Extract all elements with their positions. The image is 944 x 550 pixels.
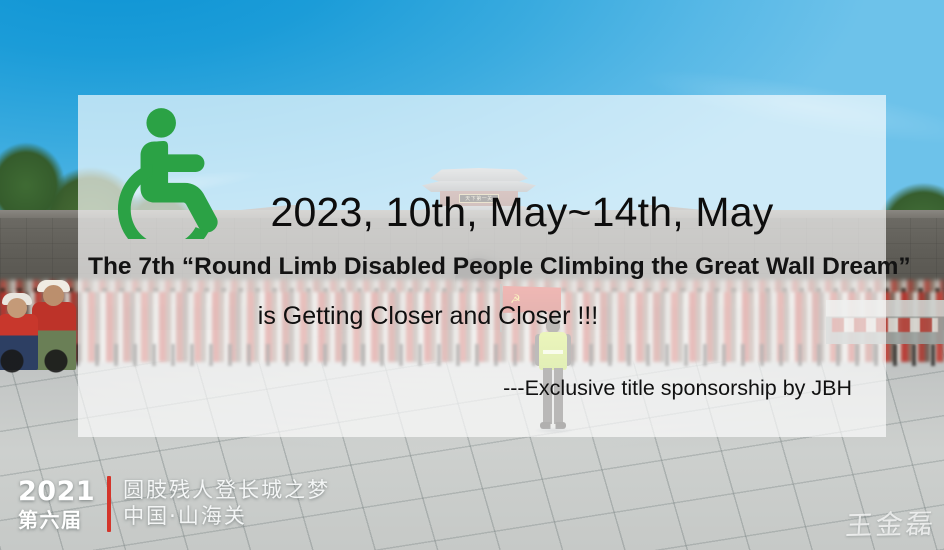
poster-canvas: 天下第一关 — [0, 0, 944, 550]
poster-text-block: 2023, 10th, May~14th, May The 7th “Round… — [78, 95, 886, 437]
event-tagline: is Getting Closer and Closer !!! — [78, 302, 886, 331]
sponsor-credit-line: ---Exclusive title sponsorship by JBH — [503, 376, 852, 401]
logo-divider-bar — [107, 476, 111, 532]
head-a — [7, 298, 27, 318]
foreground-participants-left — [0, 292, 86, 370]
photographer-watermark: 王金磊 — [844, 502, 937, 543]
foreground-wheelchair-wheels — [0, 348, 82, 374]
logo-chinese-line2: 中国·山海关 — [123, 504, 330, 530]
event-title-line: The 7th “Round Limb Disabled People Clim… — [88, 253, 880, 281]
logo-year-text: 2021 — [18, 478, 95, 505]
logo-year-block: 2021 第六届 — [18, 478, 95, 530]
logo-edition-text: 第六届 — [18, 510, 83, 530]
logo-chinese-line1: 圆肢残人登长城之梦 — [123, 478, 330, 504]
head-b — [43, 285, 64, 306]
logo-chinese-block: 圆肢残人登长城之梦 中国·山海关 — [123, 478, 330, 529]
event-logo-lockup: 2021 第六届 圆肢残人登长城之梦 中国·山海关 — [18, 476, 330, 532]
event-date-line: 2023, 10th, May~14th, May — [78, 189, 880, 236]
